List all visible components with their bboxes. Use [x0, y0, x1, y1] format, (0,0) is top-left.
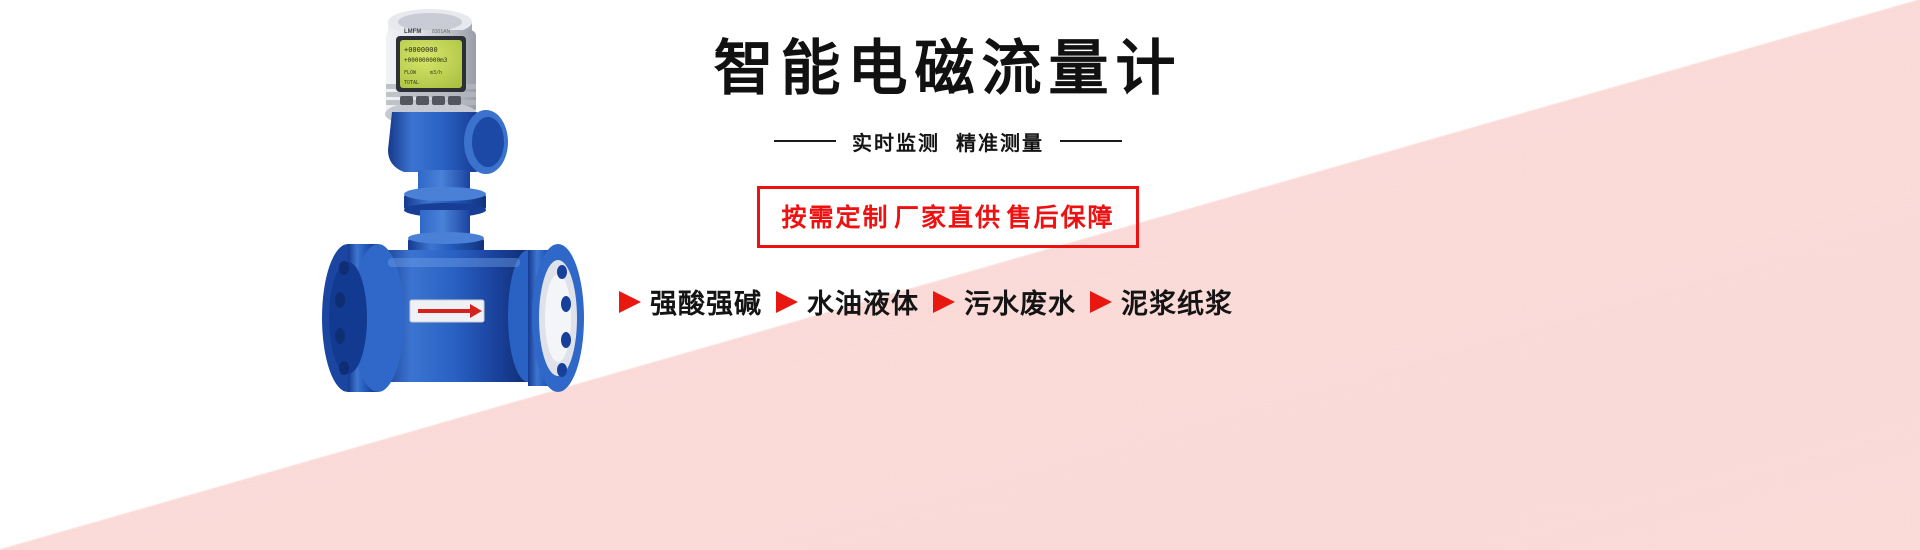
badge-item-custom: 按需定制: [782, 204, 890, 232]
subtitle-left: 实时监测: [852, 127, 940, 156]
subtitle-right: 精准测量: [956, 127, 1044, 156]
svg-text:+000000000m3: +000000000m3: [404, 57, 448, 64]
feature-label-1: 水油液体: [807, 282, 919, 321]
svg-text:LMFM: LMFM: [404, 29, 421, 35]
feature-list: 强酸强碱 水油液体 污水废水 泥浆纸浆: [622, 282, 1230, 321]
riser-neck: [404, 170, 486, 252]
svg-text:m3/h: m3/h: [430, 70, 442, 76]
svg-text:+0000000: +0000000: [404, 46, 438, 54]
svg-text:8301AN: 8301AN: [432, 29, 450, 35]
badge-item-aftersales: 售后保障: [1006, 204, 1114, 232]
feature-item-1: 水油液体: [776, 282, 919, 321]
badge-item-factory: 厂家直供: [894, 204, 1002, 232]
feature-label-0: 强酸强碱: [650, 282, 762, 321]
promo-banner: +0000000 +000000000m3 FLOW m3/h TOTAL LM…: [0, 0, 1920, 550]
arrow-right-icon: [933, 291, 955, 313]
feature-item-3: 泥浆纸浆: [1090, 282, 1233, 321]
feature-label-2: 污水废水: [964, 282, 1076, 321]
arrow-right-icon: [776, 291, 798, 313]
subtitle-row: 实时监测 精准测量: [666, 127, 1230, 156]
flange-right: [528, 244, 584, 392]
page-title: 智能电磁流量计: [666, 34, 1230, 105]
rule-right-icon: [1060, 140, 1122, 142]
meter-body: [322, 244, 584, 392]
arrow-right-icon: [1090, 291, 1112, 313]
svg-text:FLOW: FLOW: [404, 70, 417, 76]
rule-left-icon: [774, 140, 836, 142]
flow-direction-label: [410, 300, 484, 322]
feature-item-2: 污水废水: [933, 282, 1076, 321]
banner-content: 智能电磁流量计 实时监测 精准测量 按需定制 厂家直供 售后保障 强酸强碱 水油…: [610, 34, 1230, 424]
feature-label-3: 泥浆纸浆: [1121, 282, 1233, 321]
guarantee-badge: 按需定制 厂家直供 售后保障: [757, 186, 1140, 248]
arrow-right-icon: [619, 291, 641, 313]
feature-item-0: 强酸强碱: [619, 282, 762, 321]
svg-text:TOTAL: TOTAL: [404, 80, 419, 86]
